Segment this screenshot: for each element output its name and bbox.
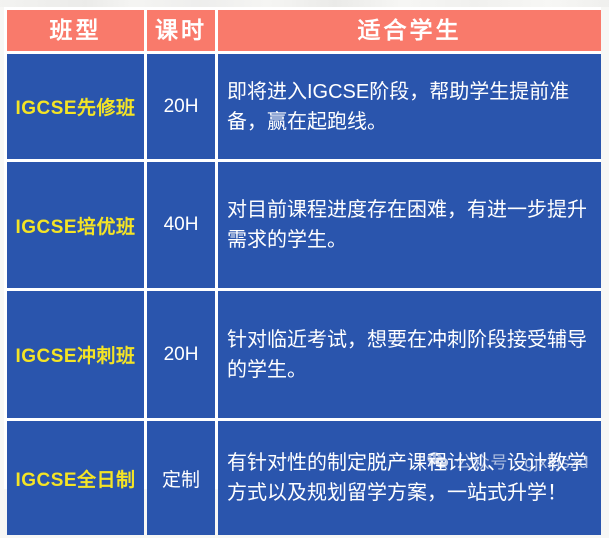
cell-hours: 20H	[147, 291, 215, 418]
cell-class-type: IGCSE全日制	[7, 421, 144, 535]
table-row: IGCSE先修班 20H 即将进入IGCSE阶段，帮助学生提前准备，赢在起跑线。	[7, 54, 601, 159]
column-header-hours: 课时	[147, 10, 215, 51]
table-header: 班型 课时 适合学生	[7, 10, 601, 51]
cell-hours: 定制	[147, 421, 215, 535]
course-table-container: 班型 课时 适合学生 IGCSE先修班 20H 即将进入IGCSE阶段，帮助学生…	[4, 7, 601, 489]
column-header-class-type: 班型	[7, 10, 144, 51]
table-body: IGCSE先修班 20H 即将进入IGCSE阶段，帮助学生提前准备，赢在起跑线。…	[7, 54, 601, 535]
table-header-row: 班型 课时 适合学生	[7, 10, 601, 51]
cell-hours: 40H	[147, 162, 215, 288]
table-row: IGCSE冲刺班 20H 针对临近考试，想要在冲刺阶段接受辅导的学生。	[7, 291, 601, 418]
cell-class-type: IGCSE先修班	[7, 54, 144, 159]
cell-target-student: 对目前课程进度存在困难，有进一步提升需求的学生。	[218, 162, 601, 288]
cell-target-student: 即将进入IGCSE阶段，帮助学生提前准备，赢在起跑线。	[218, 54, 601, 159]
table-row: IGCSE培优班 40H 对目前课程进度存在困难，有进一步提升需求的学生。	[7, 162, 601, 288]
cell-hours: 20H	[147, 54, 215, 159]
table-row: IGCSE全日制 定制 有针对性的制定脱产课程计划、设计教学方式以及规划留学方案…	[7, 421, 601, 535]
column-header-target-student: 适合学生	[218, 10, 601, 51]
course-table: 班型 课时 适合学生 IGCSE先修班 20H 即将进入IGCSE阶段，帮助学生…	[4, 7, 604, 538]
cell-class-type: IGCSE冲刺班	[7, 291, 144, 418]
cell-class-type: IGCSE培优班	[7, 162, 144, 288]
cell-target-student: 针对临近考试，想要在冲刺阶段接受辅导的学生。	[218, 291, 601, 418]
cell-target-student: 有针对性的制定脱产课程计划、设计教学方式以及规划留学方案，一站式升学！	[218, 421, 601, 535]
top-edge-artifact	[0, 0, 609, 7]
